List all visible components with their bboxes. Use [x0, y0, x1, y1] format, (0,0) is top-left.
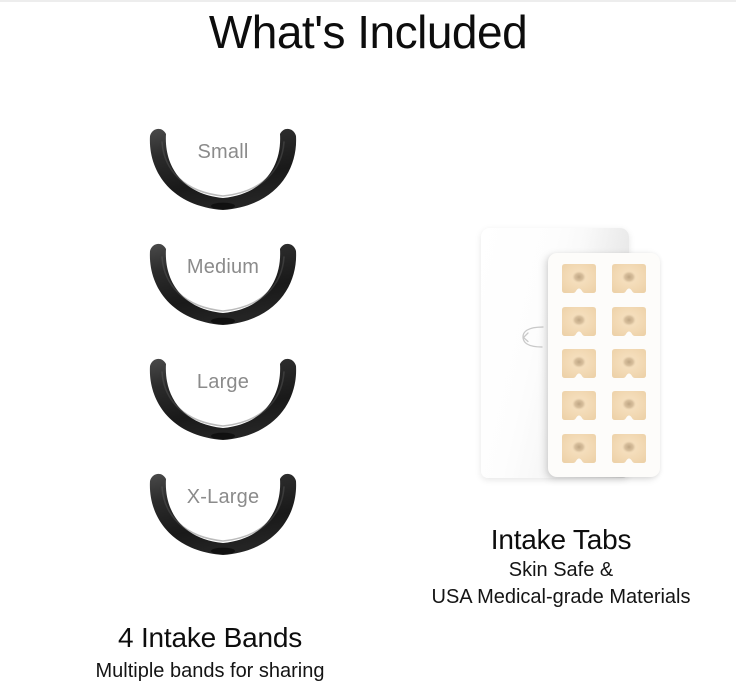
band-item-large[interactable]: Large [118, 352, 328, 467]
intake-band-icon [118, 352, 328, 467]
band-label: Small [118, 141, 328, 164]
intake-bands-group: Small Medium Large X-Large [118, 122, 328, 582]
page-title: What's Included [0, 6, 736, 59]
band-label: Large [118, 371, 328, 394]
peel-arrow-icon [517, 320, 551, 354]
intake-tab-icon [558, 305, 600, 341]
intake-tab-icon [608, 262, 650, 298]
intake-band-icon [118, 467, 328, 582]
tab-item[interactable] [605, 260, 653, 300]
tab-item[interactable] [555, 430, 603, 470]
intake-band-icon [118, 237, 328, 352]
tab-item[interactable] [555, 302, 603, 342]
tab-item[interactable] [605, 345, 653, 385]
intake-tab-icon [558, 347, 600, 383]
tab-grid [555, 260, 653, 470]
band-item-small[interactable]: Small [118, 122, 328, 237]
band-label: Medium [118, 256, 328, 279]
intake-tab-icon [608, 305, 650, 341]
intake-tabs-photo[interactable] [470, 222, 670, 484]
tab-item[interactable] [605, 430, 653, 470]
bands-caption-subtitle: Multiple bands for sharing [0, 658, 420, 684]
tab-item[interactable] [555, 387, 603, 427]
top-divider [0, 0, 736, 2]
intake-tab-icon [558, 432, 600, 468]
intake-tab-icon [608, 347, 650, 383]
tabs-caption-title: Intake Tabs [386, 522, 736, 557]
tab-item[interactable] [555, 345, 603, 385]
band-item-medium[interactable]: Medium [118, 237, 328, 352]
tab-item[interactable] [605, 302, 653, 342]
intake-tab-icon [558, 389, 600, 425]
tab-item[interactable] [555, 260, 603, 300]
tabs-front-sheet [548, 253, 660, 477]
band-item-xlarge[interactable]: X-Large [118, 467, 328, 582]
bands-caption-title: 4 Intake Bands [0, 620, 420, 655]
bands-caption: 4 Intake Bands Multiple bands for sharin… [0, 620, 420, 684]
intake-tab-icon [608, 432, 650, 468]
tab-item[interactable] [605, 387, 653, 427]
intake-tab-icon [558, 262, 600, 298]
tabs-caption-subtitle-line1: Skin Safe & [386, 557, 736, 584]
band-label: X-Large [118, 486, 328, 509]
whats-included-infographic: What's Included Small [0, 0, 736, 685]
tabs-caption-subtitle-line2: USA Medical-grade Materials [386, 584, 736, 611]
tabs-caption: Intake Tabs Skin Safe & USA Medical-grad… [386, 522, 736, 611]
intake-tab-icon [608, 389, 650, 425]
intake-band-icon [118, 122, 328, 237]
